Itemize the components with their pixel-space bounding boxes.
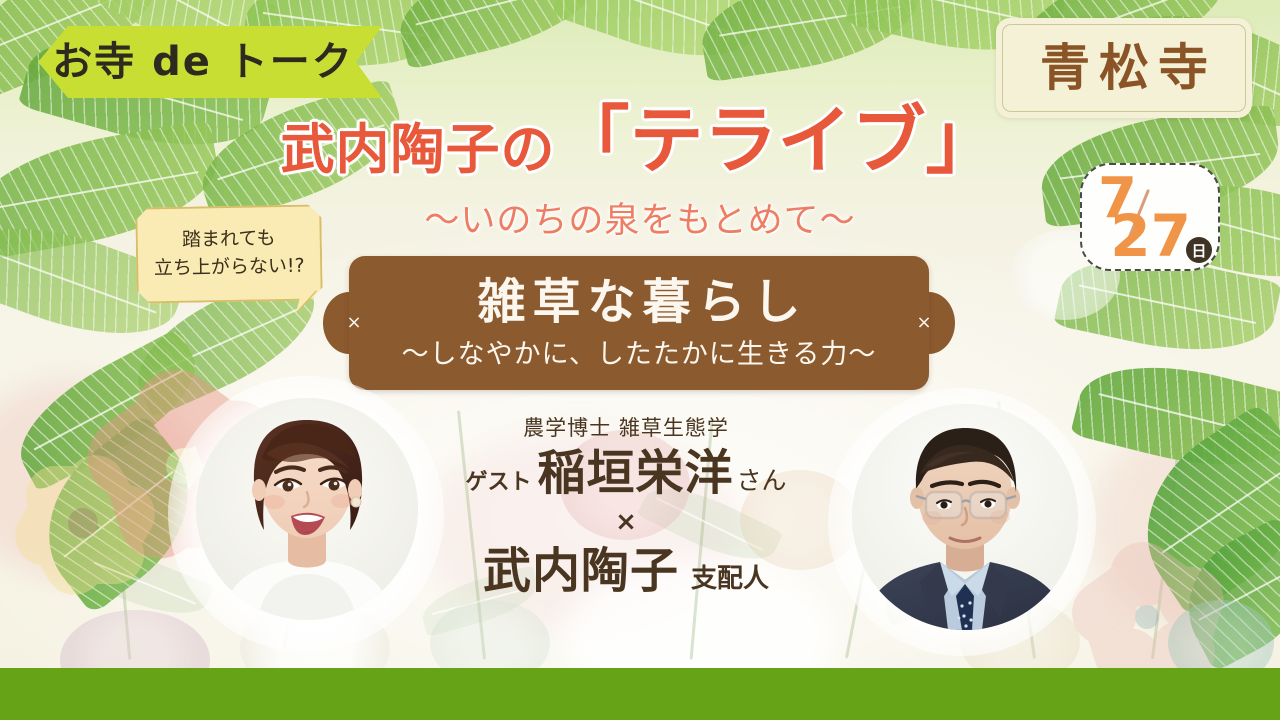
bottom-accent-bar: [0, 668, 1280, 720]
guest-portrait: [852, 404, 1078, 630]
speech-bubble: 踏まれても 立ち上がらない!?: [135, 204, 323, 303]
series-ribbon: お寺 de トーク: [38, 26, 382, 98]
host-portrait: [196, 398, 418, 620]
guest-name: 稲垣栄洋: [537, 449, 733, 497]
host-name-row: 武内陶子 支配人: [420, 547, 832, 595]
temple-name-plaque: 青松寺: [996, 18, 1252, 118]
speakers-block: 農学博士 雑草生態学 ゲスト 稲垣栄洋 さん × 武内陶子 支配人: [420, 418, 832, 595]
theme-plaque: 雑草な暮らし 〜しなやかに、したたかに生きる力〜 × ×: [335, 256, 943, 390]
theme-plaque-body: 雑草な暮らし 〜しなやかに、したたかに生きる力〜: [349, 256, 929, 390]
plaque-screw-right-icon: ×: [915, 314, 933, 332]
guest-label: ゲスト: [465, 464, 531, 496]
speech-bubble-line-1: 踏まれても: [182, 226, 276, 255]
theme-tagline: 〜しなやかに、したたかに生きる力〜: [402, 341, 877, 368]
guest-name-suffix: さん: [737, 461, 787, 497]
program-title-prefix: 武内陶子の: [281, 118, 556, 181]
guest-name-row: ゲスト 稲垣栄洋 さん: [420, 449, 832, 497]
temple-name-label: 青松寺: [1031, 43, 1217, 93]
host-role: 支配人: [691, 558, 769, 595]
series-ribbon-label: お寺 de トーク: [52, 42, 368, 82]
program-title-emphasis: 「テライブ」: [556, 98, 1000, 184]
theme-title: 雑草な暮らし: [470, 278, 807, 326]
program-title: 武内陶子の「テライブ」: [0, 104, 1280, 178]
host-name: 武内陶子: [483, 547, 679, 595]
speakers-cross-icon: ×: [420, 509, 832, 535]
guest-credential: 農学博士 雑草生態学: [420, 418, 832, 439]
speech-bubble-line-2: 立ち上がらない!?: [154, 253, 305, 283]
plaque-screw-left-icon: ×: [345, 314, 363, 332]
event-poster: お寺 de トーク 青松寺 7 27 日 武内陶子の「テライブ」 〜いのちの泉を…: [0, 0, 1280, 720]
